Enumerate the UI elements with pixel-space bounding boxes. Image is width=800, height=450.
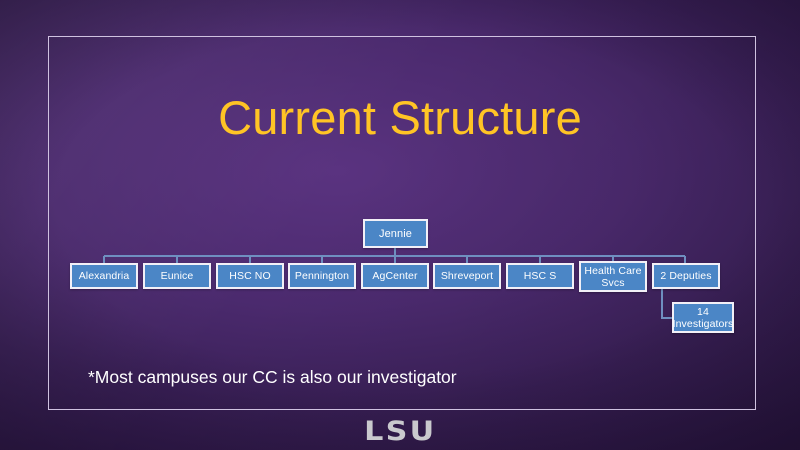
org-node-label: Jennie — [379, 228, 412, 240]
org-node-label: 14 Investigators — [673, 306, 734, 330]
org-node-label: Alexandria — [79, 270, 130, 282]
lsu-logo: LSU — [0, 416, 800, 447]
lsu-logo-text: LSU — [364, 416, 436, 447]
org-node-health-care-svcs[interactable]: Health Care Svcs — [579, 261, 647, 292]
org-node-shreveport[interactable]: Shreveport — [433, 263, 501, 289]
org-node-label: HSC NO — [229, 270, 270, 282]
org-node-label: Eunice — [161, 270, 194, 282]
org-node-14-investigators[interactable]: 14 Investigators — [672, 302, 734, 333]
org-node-root[interactable]: Jennie — [363, 219, 428, 248]
org-node-eunice[interactable]: Eunice — [143, 263, 211, 289]
org-node-label: Pennington — [295, 270, 349, 282]
org-node-hsc-no[interactable]: HSC NO — [216, 263, 284, 289]
org-node-hsc-s[interactable]: HSC S — [506, 263, 574, 289]
slide-canvas: Current Structure — [0, 0, 800, 450]
org-node-agcenter[interactable]: AgCenter — [361, 263, 429, 289]
org-node-label: AgCenter — [372, 270, 417, 282]
footnote-text: *Most campuses our CC is also our invest… — [88, 366, 457, 388]
org-node-label: 2 Deputies — [660, 270, 711, 282]
org-node-label: HSC S — [524, 270, 557, 282]
org-node-label: Shreveport — [441, 270, 493, 282]
org-node-pennington[interactable]: Pennington — [288, 263, 356, 289]
org-node-label: Health Care Svcs — [584, 265, 641, 289]
org-node-alexandria[interactable]: Alexandria — [70, 263, 138, 289]
org-node-2-deputies[interactable]: 2 Deputies — [652, 263, 720, 289]
